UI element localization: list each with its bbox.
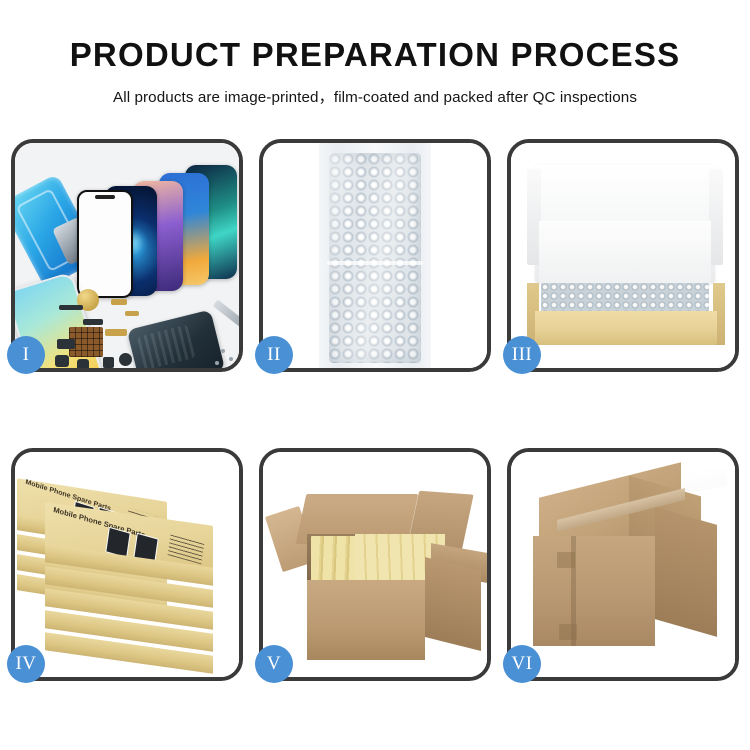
step-badge-2: II	[255, 336, 293, 374]
flex-cable-icon	[105, 329, 127, 336]
sealed-carton-image	[511, 452, 735, 677]
stacked-boxes-image: Mobile Phone Spare Parts Mobile Phone Sp…	[15, 452, 239, 677]
inner-box-panel: III	[507, 139, 739, 372]
open-carton-panel: V	[259, 448, 491, 681]
header: PRODUCT PREPARATION PROCESS All products…	[0, 0, 750, 107]
sealed-carton-panel: VI	[507, 448, 739, 681]
open-carton-image	[263, 452, 487, 677]
phone-parts-image	[15, 143, 239, 368]
screw-icon	[215, 361, 219, 365]
home-button-icon	[119, 353, 132, 366]
screw-icon	[229, 357, 233, 361]
bubble-wrapped-product-icon	[541, 283, 709, 313]
page-subtitle: All products are image-printed，film-coat…	[0, 73, 750, 107]
battery-connector-icon	[77, 359, 89, 368]
connector-part-icon	[57, 339, 75, 349]
step-badge-6: VI	[503, 645, 541, 683]
open-carton-scene	[263, 452, 487, 677]
carton-front-face	[533, 536, 655, 646]
carton-front-face	[307, 580, 425, 660]
carton-right-face	[425, 557, 481, 651]
inner-box-image	[511, 143, 735, 368]
earpiece-part-icon	[59, 305, 83, 310]
phone-chassis-icon	[127, 310, 225, 368]
step-badge-1: I	[7, 336, 45, 374]
flex-cable-icon	[111, 299, 127, 305]
kraft-tray-icon	[535, 311, 717, 345]
stacked-boxes-panel: Mobile Phone Spare Parts Mobile Phone Sp…	[11, 448, 243, 681]
stacked-boxes-scene: Mobile Phone Spare Parts Mobile Phone Sp…	[15, 452, 239, 677]
foam-insert-icon	[539, 221, 711, 283]
carton-hand-tab	[557, 552, 575, 568]
step-badge-4: IV	[7, 645, 45, 683]
pouch-seam	[327, 261, 423, 265]
sealed-carton-scene	[511, 452, 735, 677]
bubble-wrap-image	[263, 143, 487, 368]
box-spec-lines	[168, 534, 205, 565]
phone-screen-white	[77, 190, 133, 298]
lid-flap-right	[709, 169, 723, 265]
bubble-sheet-icon	[329, 153, 421, 363]
screw-icon	[221, 349, 225, 353]
step-badge-3: III	[503, 336, 541, 374]
sim-tray-icon	[103, 357, 114, 368]
page-title: PRODUCT PREPARATION PROCESS	[0, 0, 750, 73]
bubble-wrap-scene	[263, 143, 487, 368]
phone-parts-panel: I	[11, 139, 243, 372]
antenna-part-icon	[83, 319, 103, 325]
flex-cable-icon	[125, 311, 139, 316]
camera-module-icon	[55, 355, 69, 367]
phone-parts-scene	[15, 143, 239, 368]
carton-right-face	[655, 507, 717, 637]
step-badge-5: V	[255, 645, 293, 683]
bubble-wrap-panel: II	[259, 139, 491, 372]
process-step-grid: I II III	[11, 139, 739, 684]
carton-hand-tab	[559, 624, 577, 640]
tweezers-icon	[213, 300, 239, 331]
inner-box-scene	[511, 143, 735, 368]
